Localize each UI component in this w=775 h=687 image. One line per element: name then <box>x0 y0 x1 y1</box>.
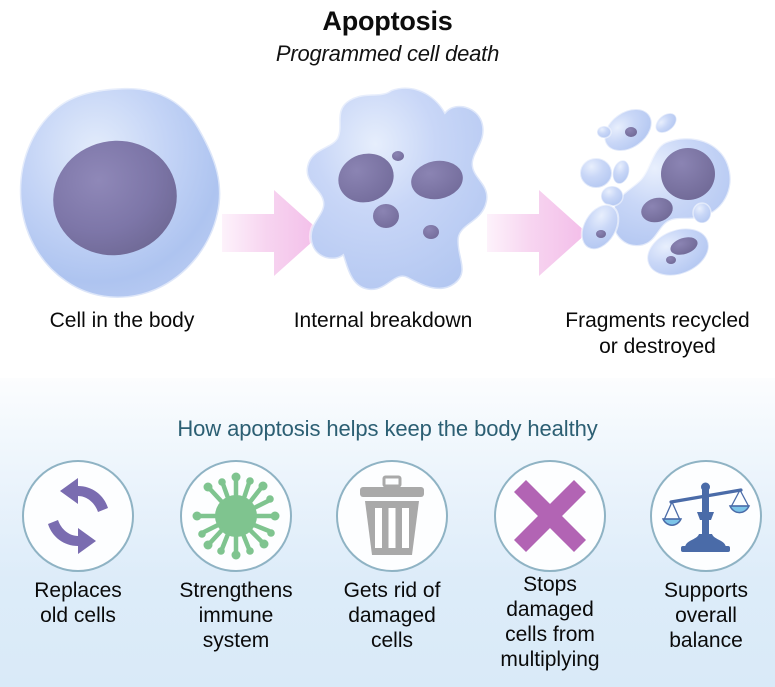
benefits-heading: How apoptosis helps keep the body health… <box>0 416 775 442</box>
stage-caption-2: Internal breakdown <box>258 308 508 334</box>
benefit-item-gets-rid-of-damaged-cells[interactable]: Gets rid of damaged cells <box>314 460 470 687</box>
benefits-panel: How apoptosis helps keep the body health… <box>0 378 775 687</box>
benefit-label: Replaces old cells <box>0 578 160 628</box>
benefit-item-supports-overall-balance[interactable]: Supports overall balance <box>628 460 775 687</box>
balance-scale-icon <box>663 476 749 556</box>
benefit-item-strengthens-immune-system[interactable]: Strengthens immune system <box>158 460 314 687</box>
benefit-label: Gets rid of damaged cells <box>310 578 474 653</box>
process-panel: Apoptosis Programmed cell death <box>0 0 775 378</box>
benefits-row: Replaces old cells <box>0 460 775 687</box>
benefit-label: Strengthens immune system <box>154 578 318 653</box>
benefit-icon-circle <box>494 460 606 572</box>
stage-caption-3: Fragments recycled or destroyed <box>540 308 775 360</box>
apoptosis-infographic: Apoptosis Programmed cell death <box>0 0 775 687</box>
benefit-label: Supports overall balance <box>624 578 775 653</box>
benefit-icon-circle <box>650 460 762 572</box>
trash-can-icon <box>354 475 430 557</box>
benefit-icon-circle <box>180 460 292 572</box>
cell-fragments-illustration <box>560 80 775 305</box>
benefit-item-replaces-old-cells[interactable]: Replaces old cells <box>0 460 156 687</box>
page-title: Apoptosis <box>0 6 775 37</box>
microbe-icon <box>192 472 280 560</box>
process-stage-3 <box>560 80 775 305</box>
x-cross-icon <box>511 477 589 555</box>
recycle-arrows-icon <box>38 476 118 556</box>
benefit-icon-circle <box>22 460 134 572</box>
intact-cell-illustration <box>10 80 235 305</box>
page-subtitle: Programmed cell death <box>0 41 775 67</box>
benefit-item-stops-damaged-cells-multiplying[interactable]: Stops damaged cells from multiplying <box>472 460 628 687</box>
process-stage-row <box>0 80 775 305</box>
process-stage-2 <box>295 80 510 305</box>
benefit-icon-circle <box>336 460 448 572</box>
fragmenting-cell-illustration <box>295 80 510 305</box>
benefit-label: Stops damaged cells from multiplying <box>468 572 632 672</box>
process-stage-1 <box>10 80 235 305</box>
stage-caption-1: Cell in the body <box>2 308 242 334</box>
stage-captions: Cell in the body Internal breakdown Frag… <box>0 308 775 378</box>
